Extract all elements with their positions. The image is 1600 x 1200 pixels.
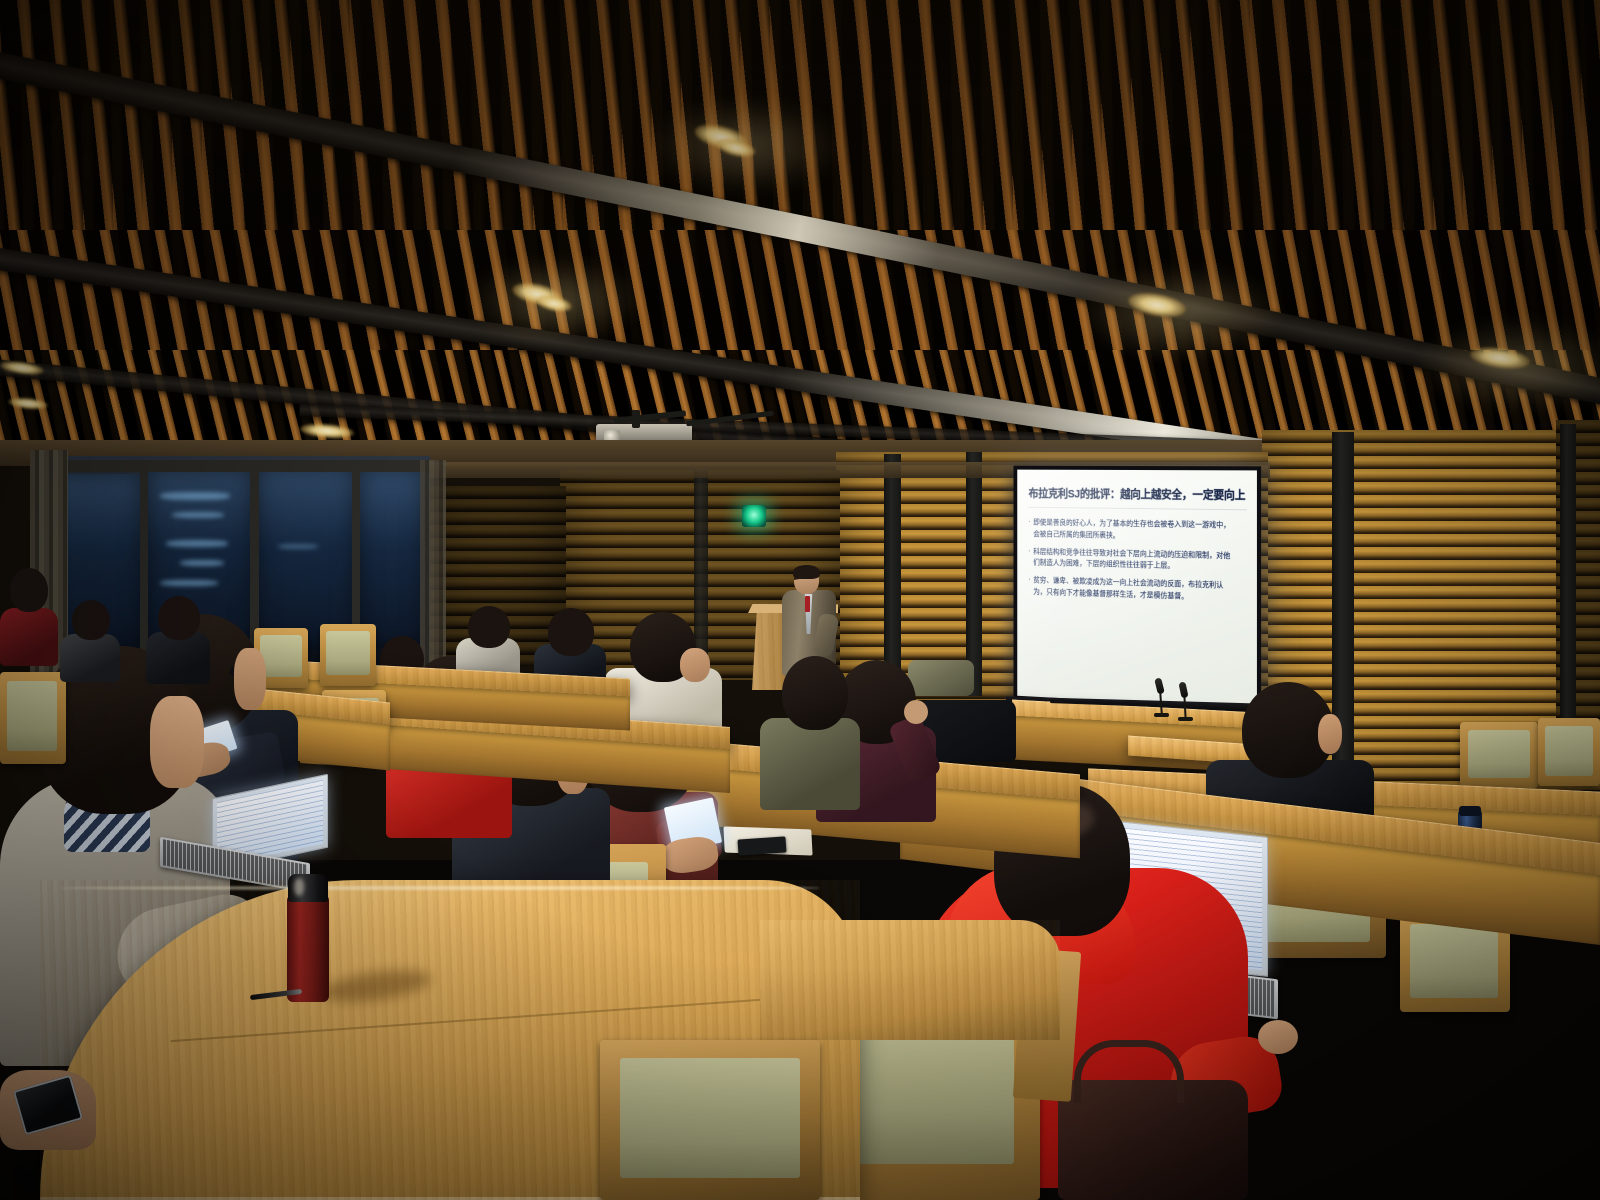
foreground-desk-right — [760, 920, 1060, 1040]
bullet-marker: · — [1028, 574, 1030, 597]
chair — [600, 1040, 820, 1200]
chair — [0, 672, 66, 764]
exit-sign-icon — [742, 505, 766, 527]
desk-edge-highlight — [60, 886, 820, 890]
attendee-far-back-left-2 — [60, 600, 122, 680]
slide-bullet-text: 科层结构和竞争往往导致对社会下层向上流动的压迫和限制，对他们制造人为困难，下层的… — [1033, 546, 1235, 574]
slide-bullet-text: 贫穷、谦卑、被欺凌成为这一向上社会流动的反面，布拉克利认为，只有向下才能像基督那… — [1033, 575, 1235, 605]
slide-content: 布拉克利SJ的批评：越向上越安全，一定要向上 · 即使是善良的好心人，为了基本的… — [1017, 470, 1257, 709]
attendee-far-back-left-3 — [146, 596, 212, 682]
microphone — [1176, 682, 1194, 722]
attendee-back-row-light — [456, 606, 522, 676]
window-pane — [360, 470, 424, 648]
empty-chair — [1538, 718, 1600, 786]
bullet-marker: · — [1028, 545, 1030, 568]
hand — [904, 700, 928, 724]
wall-column — [1560, 424, 1576, 754]
attendee-far-back-left — [0, 568, 60, 664]
slide-bullet: · 即使是善良的好心人，为了基本的生存也会被卷入到这一游戏中，会被自己所属的集团… — [1028, 517, 1235, 544]
empty-chair — [320, 624, 376, 686]
hand — [1258, 1020, 1298, 1054]
bag-strap — [1074, 1040, 1184, 1103]
slide-bullet: · 贫穷、谦卑、被欺凌成为这一向上社会流动的反面，布拉克利认为，只有向下才能像基… — [1028, 574, 1235, 604]
slide-body: · 即使是善良的好心人，为了基本的生存也会被卷入到这一游戏中，会被自己所属的集团… — [1028, 517, 1246, 605]
smartphone — [738, 836, 787, 855]
presenter-tie — [805, 596, 810, 612]
red-thermos — [287, 874, 329, 1002]
hand-on-face — [680, 648, 710, 682]
wall-column — [884, 454, 901, 694]
empty-chair — [1460, 722, 1538, 788]
slide-bullet: · 科层结构和竞争往往导致对社会下层向上流动的压迫和限制，对他们制造人为困难，下… — [1028, 545, 1235, 573]
lecture-hall-photo: 布拉克利SJ的批评：越向上越安全，一定要向上 · 即使是善良的好心人，为了基本的… — [0, 0, 1600, 1200]
slatted-wood-ceiling — [0, 0, 1600, 470]
slide-title: 布拉克利SJ的批评：越向上越安全，一定要向上 — [1028, 485, 1230, 503]
attendee-woman-olive-jacket — [760, 656, 866, 806]
slide-bullet-text: 即使是善良的好心人，为了基本的生存也会被卷入到这一游戏中，会被自己所属的集团所裹… — [1033, 517, 1235, 544]
face — [150, 696, 204, 788]
microphone — [1152, 678, 1170, 718]
bottle-cap — [1459, 806, 1481, 816]
bullet-marker: · — [1028, 517, 1030, 540]
